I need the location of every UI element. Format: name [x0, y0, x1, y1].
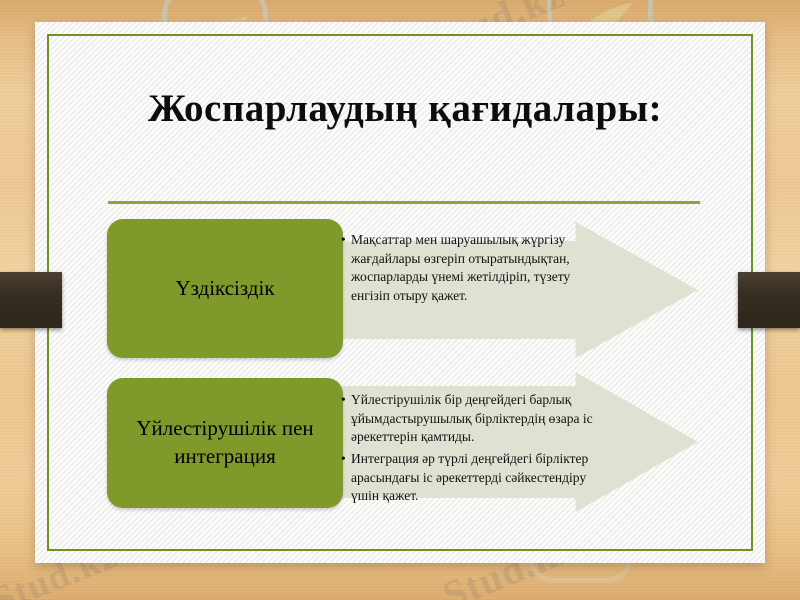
bullet-text: Интеграция әр түрлі деңгейдегі бірліктер…	[351, 450, 613, 506]
bullet-text: Үйлестірушілік бір деңгейдегі барлық ұйы…	[351, 391, 613, 447]
right-ribbon-tab	[738, 272, 800, 328]
principle-label-box-1: Үздіксіздік	[107, 219, 343, 358]
principle-label-box-2: Үйлестірушілік пен интеграция	[107, 378, 343, 508]
list-item: • Мақсаттар мен шаруашылық жүргізу жағда…	[341, 231, 601, 306]
page-title: Жоспарлаудың қағидалары:	[110, 84, 700, 134]
bullet-dot-icon: •	[341, 391, 351, 447]
presentation-slide: Stud.kz Stud.kz Stud.kz Stud.kz Stud.kz …	[0, 0, 800, 600]
bullet-dot-icon: •	[341, 231, 351, 306]
list-item: • Интеграция әр түрлі деңгейдегі бірлікт…	[341, 450, 613, 506]
title-divider	[108, 201, 700, 204]
principle-bullets-1: • Мақсаттар мен шаруашылық жүргізу жағда…	[341, 231, 601, 309]
bullet-text: Мақсаттар мен шаруашылық жүргізу жағдайл…	[351, 231, 601, 306]
left-ribbon-tab	[0, 272, 62, 328]
slide-content: Жоспарлаудың қағидалары: Үздіксіздік Үйл…	[0, 0, 800, 600]
bullet-dot-icon: •	[341, 450, 351, 506]
list-item: • Үйлестірушілік бір деңгейдегі барлық ұ…	[341, 391, 613, 447]
principle-bullets-2: • Үйлестірушілік бір деңгейдегі барлық ұ…	[341, 391, 613, 509]
